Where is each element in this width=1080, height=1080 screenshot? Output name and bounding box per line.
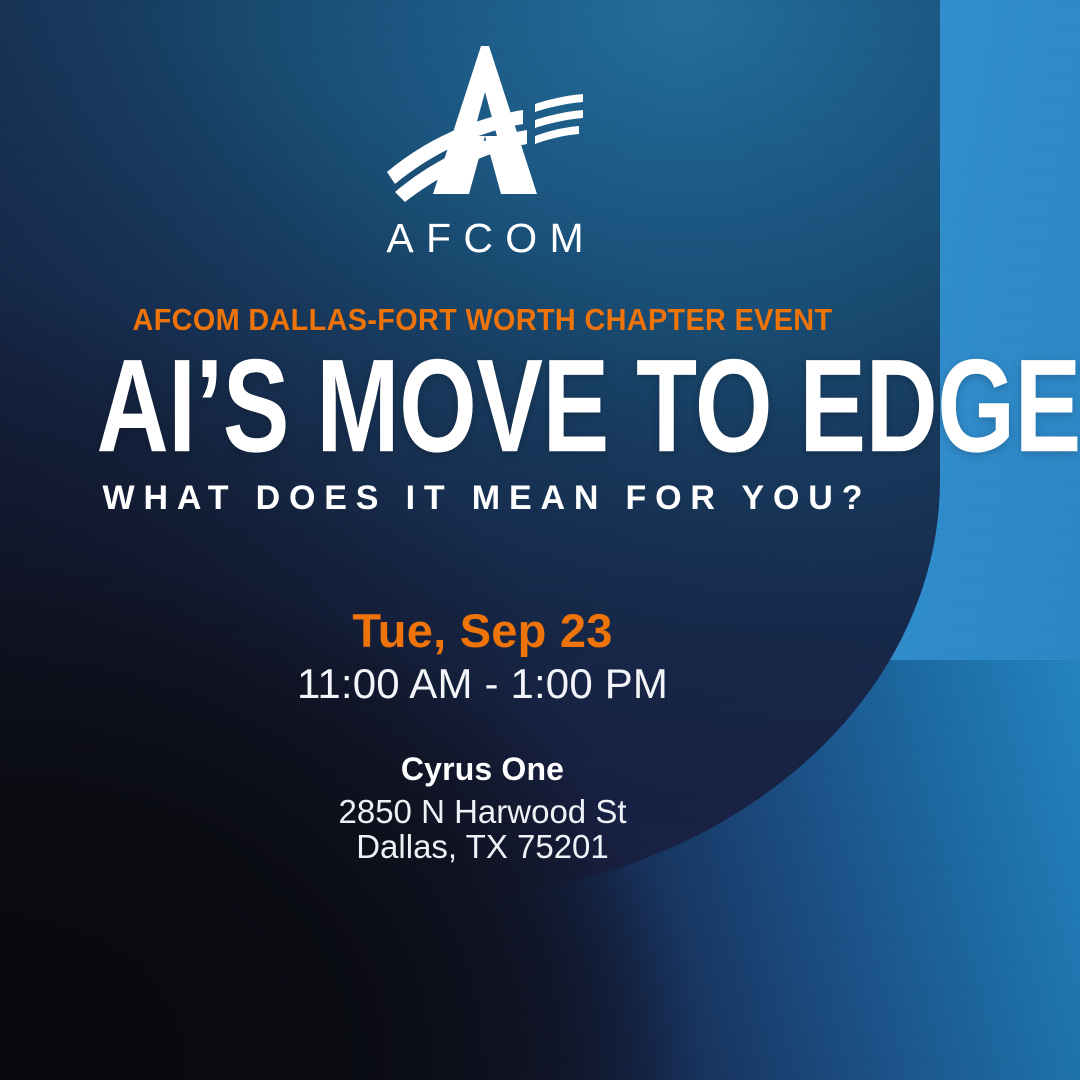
afcom-wordmark: AFCOM: [0, 218, 970, 259]
flyer-content: AFCOM AFCOM DALLAS-FORT WORTH CHAPTER EV…: [0, 0, 1080, 1080]
event-time: 11:00 AM - 1:00 PM: [0, 660, 965, 708]
event-flyer: AFCOM AFCOM DALLAS-FORT WORTH CHAPTER EV…: [0, 0, 1080, 1080]
afcom-peak-logo-icon: [385, 196, 585, 213]
event-subheadline: WHAT DOES IT MEAN FOR YOU?: [0, 479, 965, 518]
venue-city-state-zip: Dallas, TX 75201: [0, 828, 965, 866]
event-date: Tue, Sep 23: [0, 603, 965, 658]
event-headline: AI’S MOVE TO EDGE: [97, 340, 869, 473]
venue-street-address: 2850 N Harwood St: [0, 793, 965, 831]
afcom-logo: AFCOM: [0, 44, 970, 259]
venue-name: Cyrus One: [0, 751, 965, 788]
